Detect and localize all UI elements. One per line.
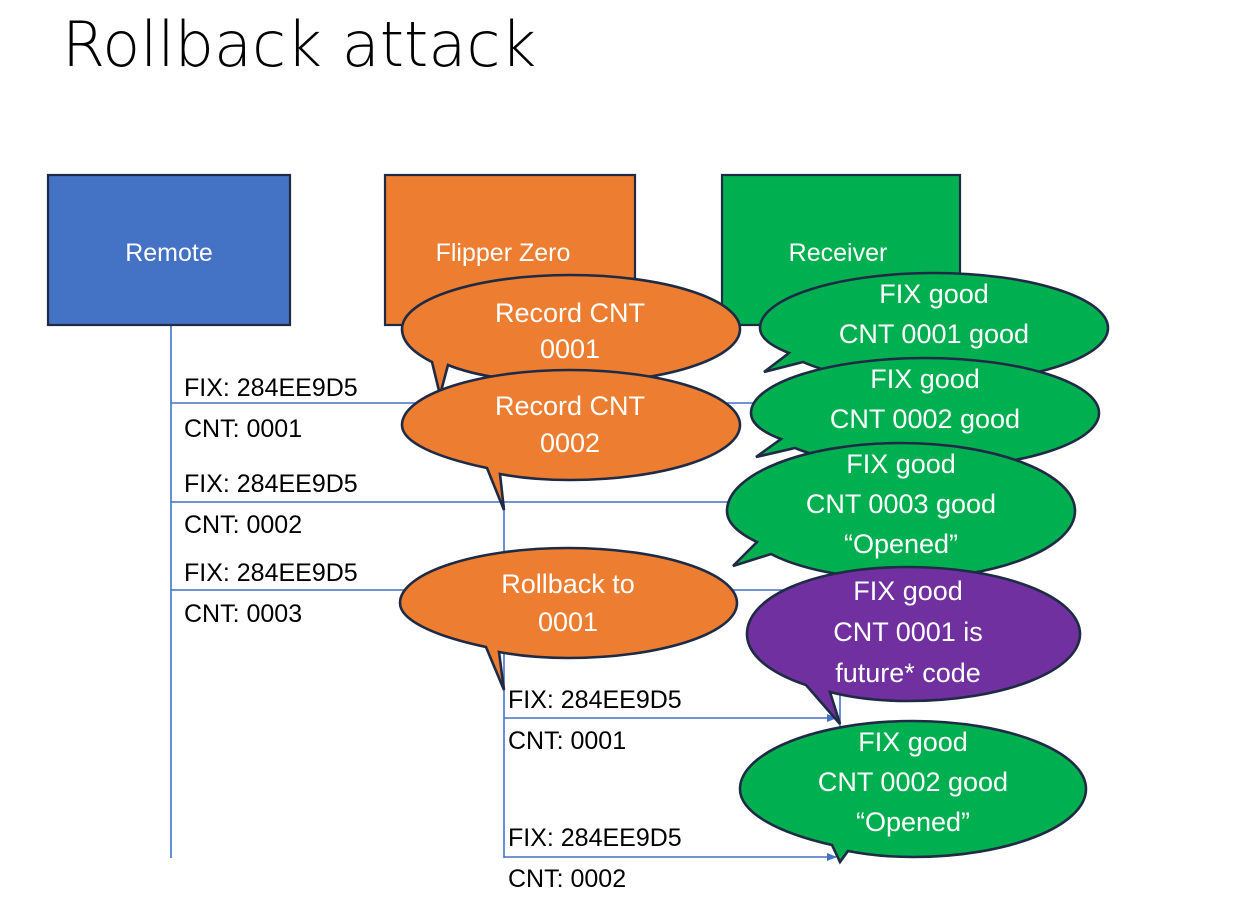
callout-receiver-future-code[interactable]: FIX good CNT 0001 is future* code (747, 567, 1080, 724)
message-cnt-m5: CNT: 0002 (508, 865, 626, 893)
callout-receiver-cnt-0002-opened-line2: CNT 0002 good (818, 767, 1008, 797)
slide-canvas: Rollback attack Remote Flipper Zero Rece… (0, 0, 1233, 898)
message-label-m4: FIX: 284EE9D5 CNT: 0001 (508, 686, 682, 755)
callout-receiver-cnt-0002-opened-line1: FIX good (858, 727, 968, 757)
lane-label-receiver: Receiver (789, 239, 888, 267)
message-label-m3: FIX: 284EE9D5 CNT: 0003 (184, 559, 358, 628)
message-fix-m4: FIX: 284EE9D5 (508, 686, 682, 714)
message-label-m2: FIX: 284EE9D5 CNT: 0002 (184, 470, 358, 539)
callout-flipper-record-0002[interactable]: Record CNT 0002 (402, 370, 740, 510)
message-fix-m2: FIX: 284EE9D5 (184, 470, 358, 498)
callout-flipper-rollback-0001-line1: Rollback to (501, 569, 635, 599)
message-cnt-m2: CNT: 0002 (184, 511, 302, 539)
callout-receiver-future-code-line1: FIX good (853, 576, 963, 606)
callout-receiver-cnt-0003-line2: CNT 0003 good (806, 489, 996, 519)
callout-receiver-cnt-0001-line2: CNT 0001 good (839, 319, 1029, 349)
callout-receiver-future-code-line2: CNT 0001 is (833, 617, 983, 647)
sequence-diagram: Remote Flipper Zero Receiver Record CNT … (0, 0, 1233, 898)
callout-receiver-cnt-0002-opened[interactable]: FIX good CNT 0002 good “Opened” (740, 721, 1086, 862)
callout-flipper-record-0001-line1: Record CNT (495, 298, 645, 328)
callout-receiver-cnt-0003-line1: FIX good (846, 449, 956, 479)
message-fix-m5: FIX: 284EE9D5 (508, 824, 682, 852)
message-cnt-m4: CNT: 0001 (508, 727, 626, 755)
callout-receiver-future-code-line3: future* code (835, 658, 981, 688)
message-label-m1: FIX: 284EE9D5 CNT: 0001 (184, 374, 358, 443)
callout-receiver-cnt-0002-line1: FIX good (870, 364, 980, 394)
lane-label-remote: Remote (125, 239, 213, 267)
callout-receiver-cnt-0001-line1: FIX good (879, 279, 989, 309)
callout-flipper-record-0002-line1: Record CNT (495, 391, 645, 421)
message-fix-m3: FIX: 284EE9D5 (184, 559, 358, 587)
callout-receiver-cnt-0003-line3: “Opened” (844, 529, 958, 559)
callout-flipper-rollback-0001-line2: 0001 (538, 607, 598, 637)
callout-receiver-cnt-0003[interactable]: FIX good CNT 0003 good “Opened” (727, 443, 1075, 579)
lane-label-flipper: Flipper Zero (436, 239, 571, 267)
message-cnt-m1: CNT: 0001 (184, 415, 302, 443)
callout-flipper-record-0001-line2: 0001 (540, 334, 600, 364)
callout-flipper-rollback-0001[interactable]: Rollback to 0001 (400, 548, 737, 690)
message-cnt-m3: CNT: 0003 (184, 600, 302, 628)
callout-receiver-cnt-0002-line2: CNT 0002 good (830, 404, 1020, 434)
message-fix-m1: FIX: 284EE9D5 (184, 374, 358, 402)
callout-flipper-record-0002-line2: 0002 (540, 428, 600, 458)
callout-receiver-cnt-0002-opened-line3: “Opened” (856, 807, 970, 837)
message-label-m5: FIX: 284EE9D5 CNT: 0002 (508, 824, 682, 893)
